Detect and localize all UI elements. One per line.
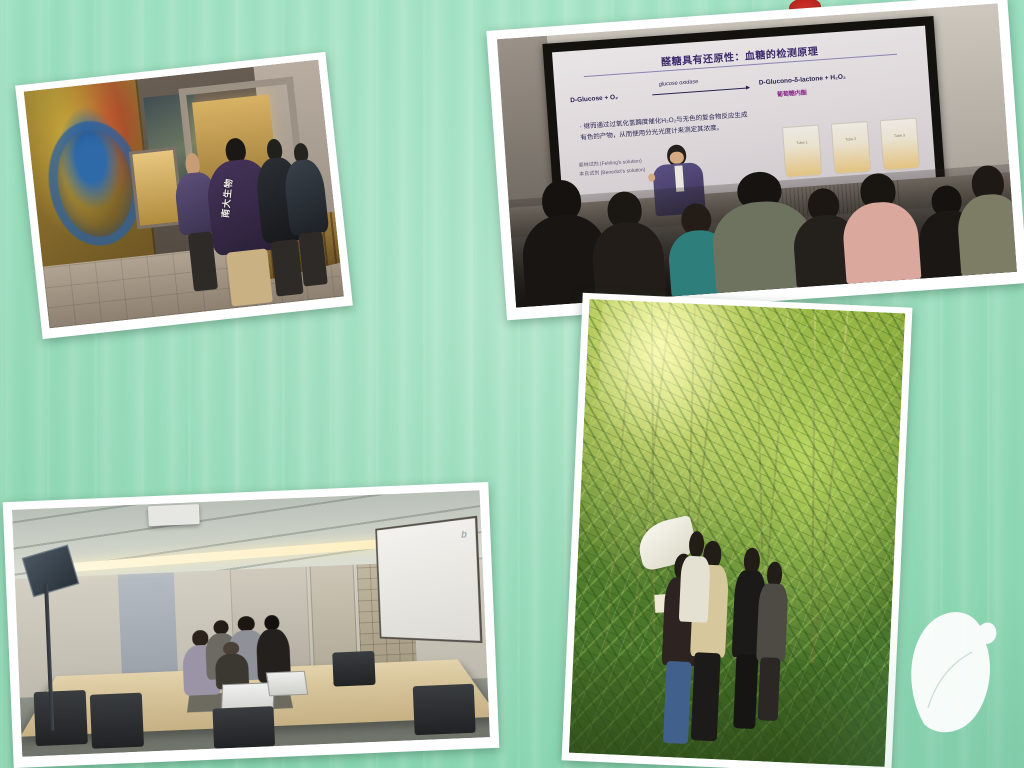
slide-title: 醛糖具有还原性：血糖的检测原理 <box>582 37 897 77</box>
audience-member <box>954 164 1017 276</box>
audience-member <box>589 190 667 302</box>
bamboo-person-3 <box>679 531 712 623</box>
audience-shoulders <box>841 200 922 284</box>
wall-panel-grey <box>118 572 179 683</box>
tube-label: Tube 2 <box>833 136 868 142</box>
open-laptop-back <box>266 671 309 697</box>
audience-shoulders <box>956 193 1017 276</box>
reaction-arrow-icon <box>653 87 749 95</box>
lecture-hall-photo[interactable]: 醛糖具有还原性：血糖的检测原理 D-Glucose + O₂ glucose o… <box>486 0 1024 320</box>
audience-shoulders <box>591 220 667 302</box>
screen-logo: b <box>461 528 467 539</box>
studio-light <box>23 548 105 729</box>
office-chair <box>332 650 376 686</box>
office-chair <box>212 707 274 749</box>
equation-reactants: D-Glucose + O₂ <box>570 94 618 104</box>
studio-light-pole <box>44 584 54 730</box>
ceiling-projector <box>148 505 200 527</box>
audience-member <box>839 171 922 284</box>
equation-products: D-Glucono-δ-lactone + H₂O₂ <box>759 73 846 86</box>
person-body <box>283 158 330 236</box>
lecturer-hand <box>647 173 655 182</box>
person-legs <box>758 657 781 721</box>
corner-shadow <box>784 578 1024 768</box>
person-legs <box>299 231 328 286</box>
person-torso <box>679 555 710 623</box>
collage-canvas: 南大生物 <box>0 0 1024 768</box>
sunlight-glow <box>596 299 749 451</box>
equation-enzyme: glucose oxidase <box>659 79 699 88</box>
studio-light-head <box>22 544 80 597</box>
office-chair <box>413 683 476 735</box>
test-tube: Tube 3 <box>880 117 921 171</box>
person-legs <box>691 652 721 741</box>
meeting-room-photo[interactable]: b <box>3 482 500 768</box>
tube-label: Tube 3 <box>882 132 917 138</box>
tube-label: Tube 1 <box>784 139 819 145</box>
wall-display-screen: b <box>376 515 483 642</box>
meeting-person-5 <box>214 641 249 689</box>
museum-corridor-photo[interactable]: 南大生物 <box>15 52 353 339</box>
test-tube: Tube 2 <box>831 121 872 175</box>
equation-subtitle: 葡萄糖内酯 <box>777 87 808 98</box>
